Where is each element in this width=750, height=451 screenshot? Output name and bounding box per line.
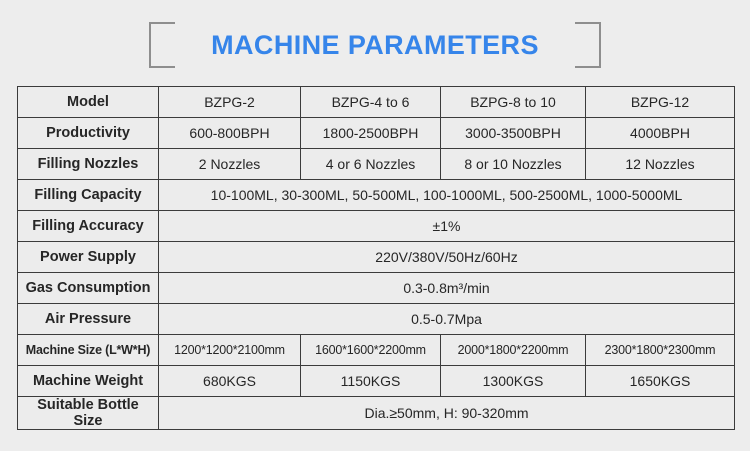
table-row: Filling Capacity10-100ML, 30-300ML, 50-5… (18, 180, 735, 211)
table-row: Power Supply220V/380V/50Hz/60Hz (18, 242, 735, 273)
row-value-model-4: 12 Nozzles (586, 149, 735, 180)
row-value-model-3: BZPG-8 to 10 (441, 87, 586, 118)
row-value-merged: Dia.≥50mm, H: 90-320mm (159, 397, 735, 430)
row-value-model-4: 2300*1800*2300mm (586, 335, 735, 366)
table-row: Machine Weight680KGS1150KGS1300KGS1650KG… (18, 366, 735, 397)
row-value-merged: 220V/380V/50Hz/60Hz (159, 242, 735, 273)
table-row: Suitable Bottle SizeDia.≥50mm, H: 90-320… (18, 397, 735, 430)
row-value-model-1: BZPG-2 (159, 87, 301, 118)
table-row: Air Pressure0.5-0.7Mpa (18, 304, 735, 335)
machine-parameters-table: ModelBZPG-2BZPG-4 to 6BZPG-8 to 10BZPG-1… (17, 86, 735, 430)
page-title-block: MACHINE PARAMETERS (0, 14, 750, 76)
row-label: Power Supply (18, 242, 159, 273)
row-value-model-2: 1800-2500BPH (301, 118, 441, 149)
row-label: Machine Size (L*W*H) (18, 335, 159, 366)
row-label: Suitable Bottle Size (18, 397, 159, 430)
row-value-model-3: 3000-3500BPH (441, 118, 586, 149)
row-label: Productivity (18, 118, 159, 149)
row-label: Filling Capacity (18, 180, 159, 211)
row-label: Filling Nozzles (18, 149, 159, 180)
right-bracket-decoration (575, 22, 601, 68)
row-value-model-2: 1150KGS (301, 366, 441, 397)
table-row: Filling Nozzles2 Nozzles4 or 6 Nozzles8 … (18, 149, 735, 180)
row-value-model-1: 2 Nozzles (159, 149, 301, 180)
table-row: Productivity600-800BPH1800-2500BPH3000-3… (18, 118, 735, 149)
row-value-model-4: BZPG-12 (586, 87, 735, 118)
left-bracket-decoration (149, 22, 175, 68)
row-label: Gas Consumption (18, 273, 159, 304)
row-value-model-3: 1300KGS (441, 366, 586, 397)
row-value-merged: 0.5-0.7Mpa (159, 304, 735, 335)
row-value-model-3: 2000*1800*2200mm (441, 335, 586, 366)
row-value-model-1: 680KGS (159, 366, 301, 397)
row-label: Model (18, 87, 159, 118)
specification-sheet: MACHINE PARAMETERS ModelBZPG-2BZPG-4 to … (0, 0, 750, 451)
table-row: ModelBZPG-2BZPG-4 to 6BZPG-8 to 10BZPG-1… (18, 87, 735, 118)
table-row: Gas Consumption0.3-0.8m³/min (18, 273, 735, 304)
row-value-merged: ±1% (159, 211, 735, 242)
row-value-model-3: 8 or 10 Nozzles (441, 149, 586, 180)
row-value-model-2: 4 or 6 Nozzles (301, 149, 441, 180)
table-row: Machine Size (L*W*H)1200*1200*2100mm1600… (18, 335, 735, 366)
row-value-model-4: 1650KGS (586, 366, 735, 397)
row-value-merged: 10-100ML, 30-300ML, 50-500ML, 100-1000ML… (159, 180, 735, 211)
row-value-model-4: 4000BPH (586, 118, 735, 149)
row-value-merged: 0.3-0.8m³/min (159, 273, 735, 304)
row-label: Air Pressure (18, 304, 159, 335)
table-row: Filling Accuracy±1% (18, 211, 735, 242)
row-value-model-1: 1200*1200*2100mm (159, 335, 301, 366)
row-value-model-1: 600-800BPH (159, 118, 301, 149)
row-label: Filling Accuracy (18, 211, 159, 242)
row-value-model-2: BZPG-4 to 6 (301, 87, 441, 118)
page-title: MACHINE PARAMETERS (175, 32, 575, 59)
row-value-model-2: 1600*1600*2200mm (301, 335, 441, 366)
row-label: Machine Weight (18, 366, 159, 397)
